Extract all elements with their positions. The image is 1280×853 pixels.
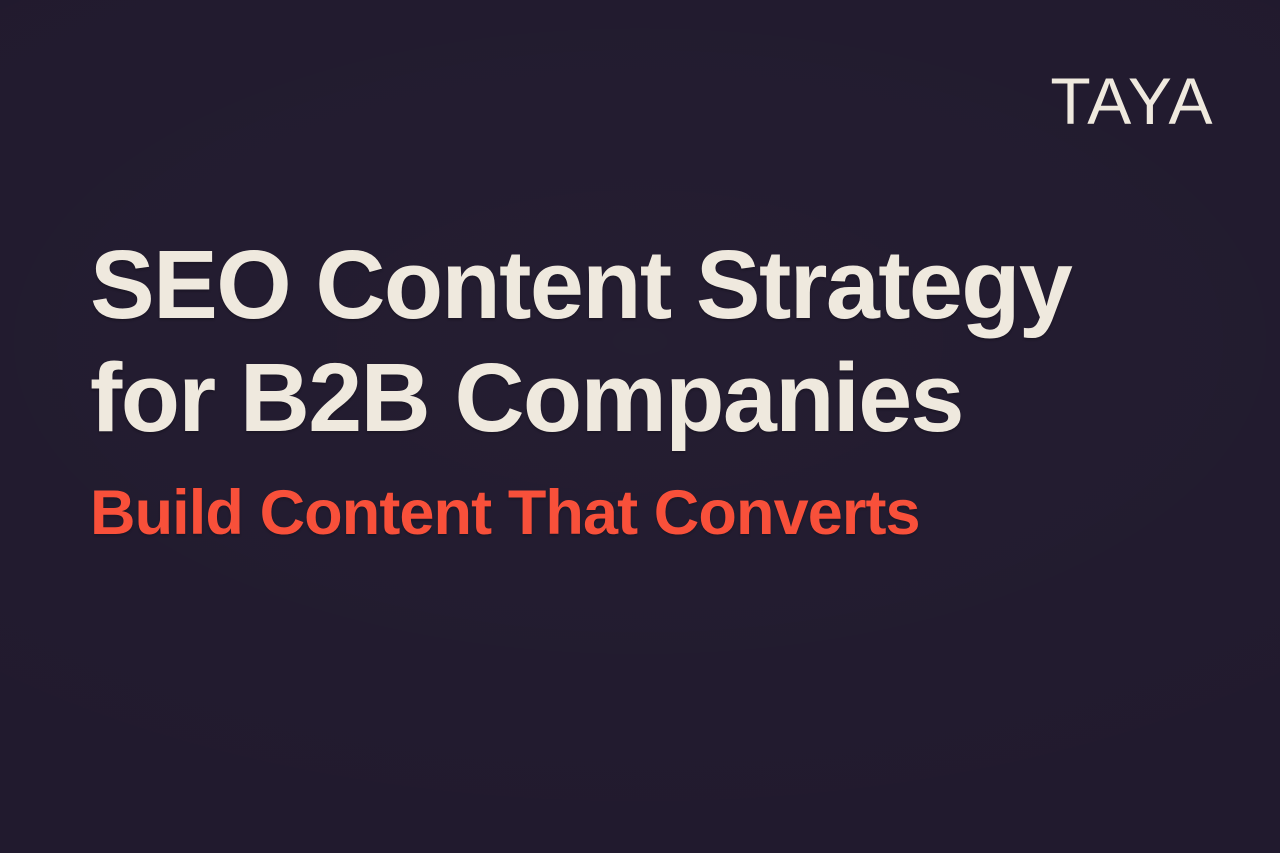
headline-line-2: for B2B Companies — [90, 341, 1200, 454]
page-title: SEO Content Strategy for B2B Companies — [90, 228, 1200, 455]
headline-line-1: SEO Content Strategy — [90, 228, 1200, 341]
presentation-slide: TAYA SEO Content Strategy for B2B Compan… — [0, 0, 1280, 853]
slide-content-block: SEO Content Strategy for B2B Companies B… — [90, 228, 1200, 550]
brand-logo-taya: TAYA — [1050, 68, 1214, 134]
page-subtitle: Build Content That Converts — [90, 477, 1200, 550]
